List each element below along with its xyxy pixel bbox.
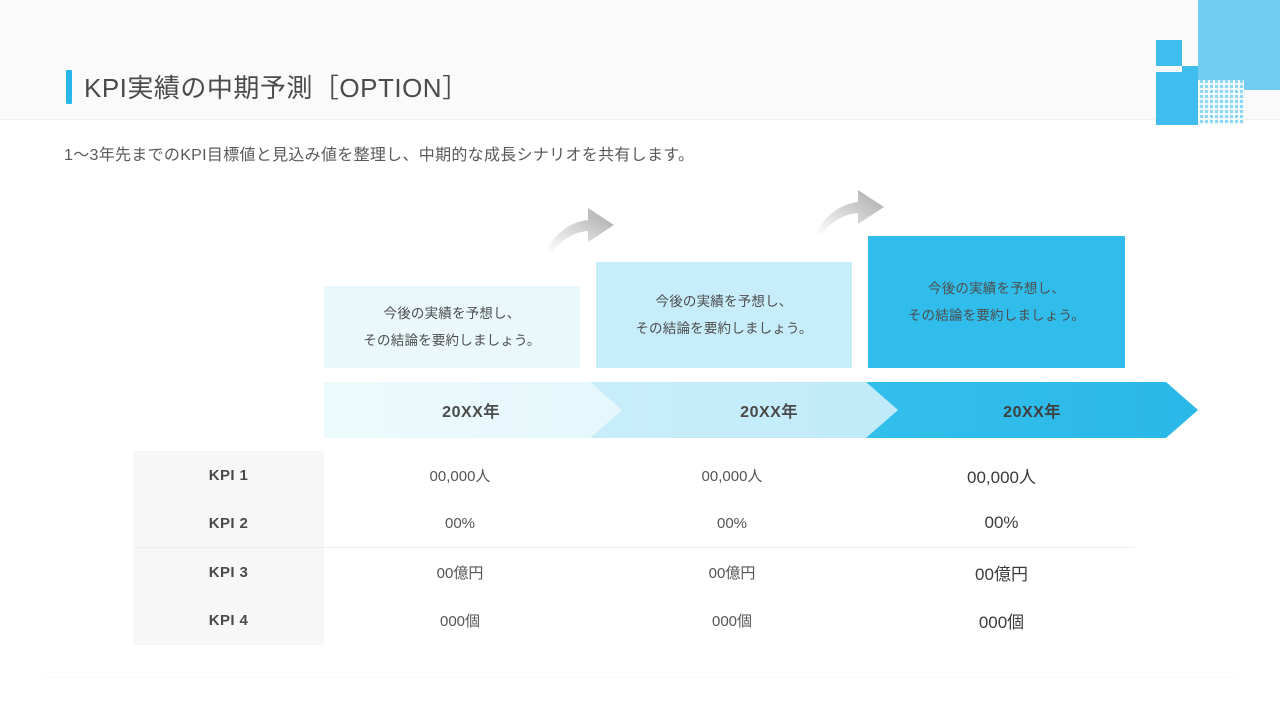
table-row: KPI 1 00,000人 00,000人 00,000人	[133, 451, 1135, 499]
page-title: KPI実績の中期予測［OPTION］	[84, 68, 469, 105]
kpi-cell: 00億円	[868, 560, 1135, 585]
table-row: KPI 4 000個 000個 000個	[133, 596, 1135, 644]
timeline-step-1-label: 20XX年	[442, 398, 500, 422]
kpi-table: KPI 1 00,000人 00,000人 00,000人 KPI 2 00% …	[133, 451, 1135, 645]
comment-box-3-line1: 今後の実績を予想し、	[928, 275, 1065, 302]
timeline-step-3: 20XX年	[866, 382, 1198, 438]
curved-arrow-2-icon	[814, 186, 886, 241]
kpi-cell: 000個	[868, 608, 1135, 633]
comment-box-3-line2: その結論を要約しましょう。	[908, 302, 1085, 329]
kpi-row-label: KPI 1	[133, 467, 324, 484]
subtitle-text: 1〜3年先までのKPI目標値と見込み値を整理し、中期的な成長シナリオを共有します…	[64, 141, 694, 165]
kpi-cell: 00,000人	[596, 465, 868, 486]
table-row: KPI 2 00% 00% 00%	[133, 499, 1135, 547]
kpi-cell: 00%	[868, 513, 1135, 533]
kpi-row-label: KPI 3	[133, 564, 324, 581]
curved-arrow-1-icon	[544, 204, 616, 259]
comment-box-2: 今後の実績を予想し、 その結論を要約しましょう。	[596, 262, 852, 368]
comment-box-2-line2: その結論を要約しましょう。	[635, 315, 812, 342]
title-accent-bar	[66, 70, 72, 104]
kpi-cell: 000個	[596, 610, 868, 631]
comment-box-1-line2: その結論を要約しましょう。	[363, 327, 540, 354]
kpi-cell: 00,000人	[324, 465, 596, 486]
comment-box-2-line1: 今後の実績を予想し、	[656, 288, 793, 315]
comment-box-3: 今後の実績を予想し、 その結論を要約しましょう。	[868, 236, 1125, 368]
comment-box-1-line1: 今後の実績を予想し、	[384, 300, 521, 327]
timeline-step-3-label: 20XX年	[1003, 398, 1061, 422]
timeline-step-2-label: 20XX年	[740, 398, 798, 422]
kpi-row-label: KPI 4	[133, 612, 324, 629]
comment-box-1: 今後の実績を予想し、 その結論を要約しましょう。	[324, 286, 580, 368]
kpi-cell: 000個	[324, 610, 596, 631]
kpi-cell: 00,000人	[868, 463, 1135, 488]
kpi-row-label: KPI 2	[133, 515, 324, 532]
kpi-cell: 00億円	[324, 562, 596, 583]
kpi-cell: 00億円	[596, 562, 868, 583]
table-row: KPI 3 00億円 00億円 00億円	[133, 548, 1135, 596]
kpi-cell: 00%	[324, 515, 596, 532]
footer-divider	[44, 677, 1236, 678]
kpi-cell: 00%	[596, 515, 868, 532]
